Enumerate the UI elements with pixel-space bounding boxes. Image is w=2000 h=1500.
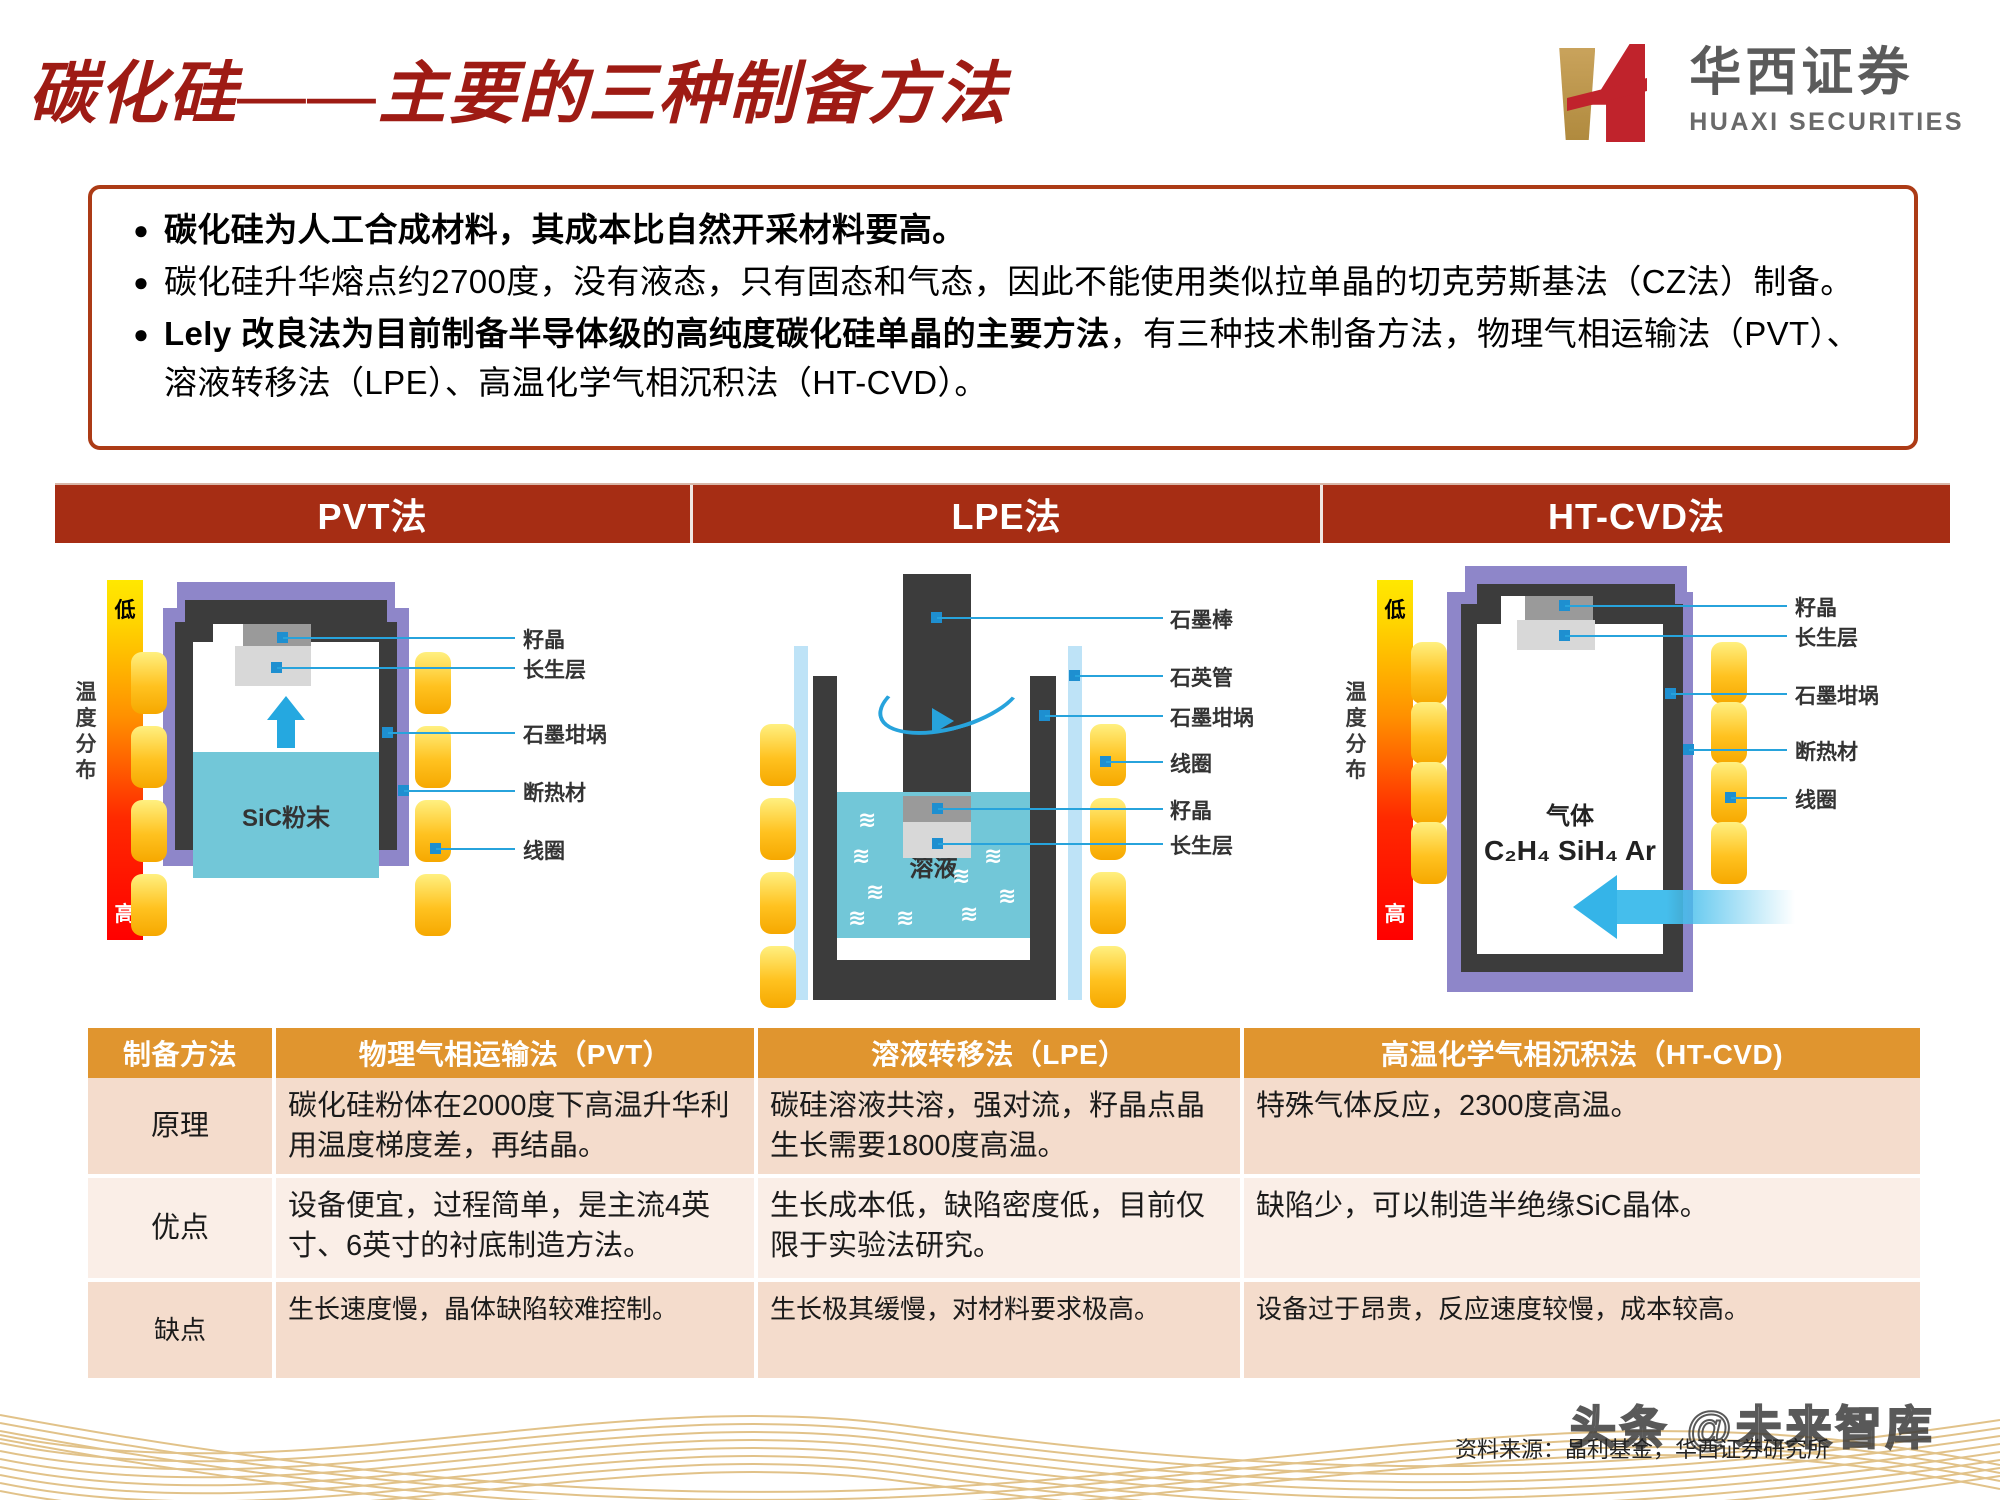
table-header-lpe: 溶液转移法（LPE）: [758, 1028, 1244, 1078]
huaxi-h-monogram-icon: [1549, 42, 1669, 142]
table-header-row: 制备方法 物理气相运输法（PVT） 溶液转移法（LPE） 高温化学气相沉积法（H…: [88, 1028, 1920, 1078]
htcvd-leader-line: [1565, 605, 1787, 607]
lpe-leader-line: [938, 843, 1163, 845]
table-cell-htcvd: 设备过于昂贵，反应速度较慢，成本较高。: [1244, 1282, 1920, 1378]
htcvd-coil: [1711, 822, 1747, 884]
table-row-label: 缺点: [88, 1282, 276, 1378]
pvt-coil: [131, 652, 167, 714]
htcvd-temperature-scale: 温度分布 低 高: [1343, 580, 1421, 980]
htcvd-label-insulation: 断热材: [1795, 736, 1858, 766]
table-header-pvt: 物理气相运输法（PVT）: [276, 1028, 758, 1078]
pvt-leader-line: [283, 637, 515, 639]
bullet-1-bold: 碳化硅为人工合成材料，其成本比自然开采材料要高。: [164, 211, 966, 248]
htcvd-gas-label: 气体: [1477, 800, 1663, 834]
banner-cell-htcvd: HT-CVD法: [1320, 485, 1950, 543]
table-header-htcvd: 高温化学气相沉积法（HT-CVD): [1244, 1028, 1920, 1078]
htcvd-coil: [1411, 822, 1447, 884]
temp-axis-label: 温度分布: [1343, 680, 1369, 784]
lpe-label-seed: 籽晶: [1170, 795, 1212, 825]
pvt-coil: [131, 874, 167, 936]
lpe-wave-icon: ≋: [896, 912, 914, 924]
bullet-3-bold: Lely 改良法为目前制备半导体级的高纯度碳化硅单晶的主要方法: [164, 315, 1110, 352]
pvt-flow-arrow-shaft: [277, 718, 295, 748]
pvt-leader-line: [277, 667, 515, 669]
pvt-coil: [131, 800, 167, 862]
lpe-wave-icon: ≋: [984, 850, 1002, 862]
table-cell-pvt: 设备便宜，过程简单，是主流4英寸、6英寸的衬底制造方法。: [276, 1178, 758, 1278]
comparison-table: 制备方法 物理气相运输法（PVT） 溶液转移法（LPE） 高温化学气相沉积法（H…: [88, 1028, 1920, 1382]
table-header-method: 制备方法: [88, 1028, 276, 1078]
banner-cell-lpe: LPE法: [690, 485, 1320, 543]
bullet-item: ● 碳化硅升华熔点约2700度，没有液态，只有固态和气态，因此不能使用类似拉单晶…: [118, 257, 1888, 307]
lpe-wave-icon: ≋: [866, 886, 884, 898]
lpe-wave-icon: ≋: [960, 908, 978, 920]
htcvd-leader-line: [1671, 693, 1787, 695]
pvt-coil: [131, 726, 167, 788]
bullet-dot-icon: ●: [118, 309, 164, 359]
pvt-label-insulation: 断热材: [523, 777, 586, 807]
pvt-coil: [415, 874, 451, 936]
lpe-label-crucible: 石墨坩埚: [1170, 702, 1254, 732]
bullet-item: ● 碳化硅为人工合成材料，其成本比自然开采材料要高。: [118, 205, 1888, 255]
logo-text-en: HUAXI SECURITIES: [1689, 108, 1964, 137]
lpe-quartz-tube-right: [1068, 646, 1082, 1000]
lpe-coil: [760, 724, 796, 786]
lpe-coil: [1090, 872, 1126, 934]
page-title: 碳化硅——主要的三种制备方法: [28, 38, 1008, 137]
table-cell-htcvd: 缺陷少，可以制造半绝缘SiC晶体。: [1244, 1178, 1920, 1278]
table-row: 优点 设备便宜，过程简单，是主流4英寸、6英寸的衬底制造方法。 生长成本低，缺陷…: [88, 1178, 1920, 1282]
temp-low-label: 低: [107, 594, 143, 624]
table-row: 缺点 生长速度慢，晶体缺陷较难控制。 生长极其缓慢，对材料要求极高。 设备过于昂…: [88, 1282, 1920, 1382]
lpe-leader-line: [937, 617, 1163, 619]
lpe-coil: [760, 872, 796, 934]
lpe-crucible-base: [813, 960, 1056, 1000]
lpe-wave-icon: ≋: [852, 850, 870, 862]
bullet-2-rest: 碳化硅升华熔点约2700度，没有液态，只有固态和气态，因此不能使用类似拉单晶的切…: [164, 263, 1854, 300]
logo-text-cn: 华西证券: [1689, 48, 1964, 100]
htcvd-gas-formula: C₂H₄ SiH₄ Ar: [1477, 834, 1663, 868]
bullet-dot-icon: ●: [118, 205, 164, 255]
lpe-label-rod: 石墨棒: [1170, 604, 1233, 634]
table-cell-pvt: 生长速度慢，晶体缺陷较难控制。: [276, 1282, 758, 1378]
lpe-leader-line: [1075, 675, 1163, 677]
htcvd-label-growth: 长生层: [1795, 622, 1858, 652]
htcvd-gas-arrow-shaft: [1617, 890, 1795, 924]
table-cell-pvt: 碳化硅粉体在2000度下高温升华利用温度梯度差，再结晶。: [276, 1078, 758, 1174]
table-cell-lpe: 生长极其缓慢，对材料要求极高。: [758, 1282, 1244, 1378]
htcvd-leader-line: [1565, 635, 1787, 637]
lpe-quartz-tube-left: [794, 646, 808, 1000]
method-banner: PVT法 LPE法 HT-CVD法: [55, 483, 1950, 543]
lpe-coil: [1090, 946, 1126, 1008]
lpe-leader-line: [1106, 761, 1163, 763]
table-cell-htcvd: 特殊气体反应，2300度高温。: [1244, 1078, 1920, 1174]
diagram-row: 温度分布 低 高 SiC粉末: [55, 560, 1950, 1000]
temp-high-label: 高: [1377, 898, 1413, 928]
htcvd-gas-text: 气体 C₂H₄ SiH₄ Ar: [1477, 800, 1663, 868]
pvt-sic-powder: SiC粉末: [193, 752, 379, 878]
htcvd-leader-line: [1689, 749, 1787, 751]
htcvd-coil: [1711, 702, 1747, 764]
table-row-label: 原理: [88, 1078, 276, 1174]
lpe-crucible-wall-right: [1030, 676, 1056, 1000]
table-cell-lpe: 生长成本低，缺陷密度低，目前仅限于实验法研究。: [758, 1178, 1244, 1278]
lpe-wave-icon: ≋: [858, 814, 876, 826]
lpe-leader-line: [938, 808, 1163, 810]
pvt-flow-arrow-head: [267, 696, 305, 720]
table-row-label: 优点: [88, 1178, 276, 1278]
pvt-label-seed: 籽晶: [523, 624, 565, 654]
pvt-label-crucible: 石墨坩埚: [523, 719, 607, 749]
lpe-wave-icon: ≋: [848, 912, 866, 924]
lpe-label-quartz: 石英管: [1170, 662, 1233, 692]
lpe-label-growth: 长生层: [1170, 830, 1233, 860]
htcvd-diagram: 温度分布 低 高 气体 C₂H₄ SiH₄ Ar 籽晶: [1325, 560, 1950, 1000]
lpe-rotation-arrow-head: [932, 708, 954, 734]
pvt-coil: [415, 726, 451, 788]
lpe-wave-icon: ≋: [998, 890, 1016, 902]
pvt-label-coil: 线圈: [523, 835, 565, 865]
company-logo: 华西证券 HUAXI SECURITIES: [1549, 42, 1964, 142]
bullet-item: ● Lely 改良法为目前制备半导体级的高纯度碳化硅单晶的主要方法，有三种技术制…: [118, 309, 1888, 407]
lpe-crucible-wall-left: [813, 676, 837, 1000]
htcvd-coil: [1411, 762, 1447, 824]
temp-axis-label: 温度分布: [73, 680, 99, 784]
pvt-leader-line: [388, 732, 515, 734]
lpe-diagram: 溶液 ≋ ≋ ≋ ≋ ≋ ≋ ≋ ≋ ≋ 石墨棒 石英管 石墨坩埚: [700, 560, 1320, 1000]
pvt-coil: [415, 652, 451, 714]
lpe-coil: [1090, 724, 1126, 786]
source-note: 资料来源：晶利基金，华西证券研究所: [1455, 1432, 1829, 1464]
table-cell-lpe: 碳硅溶液共溶，强对流，籽晶点晶生长需要1800度高温。: [758, 1078, 1244, 1174]
bullet-dot-icon: ●: [118, 257, 164, 307]
pvt-diagram: 温度分布 低 高 SiC粉末: [55, 560, 695, 1000]
pvt-label-growth: 长生层: [523, 654, 586, 684]
htcvd-label-seed: 籽晶: [1795, 592, 1837, 622]
lpe-leader-line: [1045, 715, 1163, 717]
table-row: 原理 碳化硅粉体在2000度下高温升华利用温度梯度差，再结晶。 碳硅溶液共溶，强…: [88, 1078, 1920, 1178]
htcvd-label-crucible: 石墨坩埚: [1795, 680, 1879, 710]
lpe-label-coil: 线圈: [1170, 748, 1212, 778]
temp-low-label: 低: [1377, 594, 1413, 624]
htcvd-coil: [1411, 702, 1447, 764]
htcvd-leader-line: [1731, 797, 1787, 799]
banner-cell-pvt: PVT法: [55, 485, 690, 543]
htcvd-label-coil: 线圈: [1795, 784, 1837, 814]
pvt-leader-line: [404, 790, 515, 792]
lpe-coil: [760, 798, 796, 860]
htcvd-gas-arrow-head: [1573, 875, 1617, 939]
pvt-leader-line: [436, 848, 515, 850]
htcvd-coil: [1411, 642, 1447, 704]
lpe-coil: [760, 946, 796, 1008]
summary-callout-box: ● 碳化硅为人工合成材料，其成本比自然开采材料要高。 ● 碳化硅升华熔点约270…: [88, 185, 1918, 450]
temp-gradient-bar: 低 高: [1377, 580, 1413, 940]
lpe-wave-icon: ≋: [952, 870, 970, 882]
